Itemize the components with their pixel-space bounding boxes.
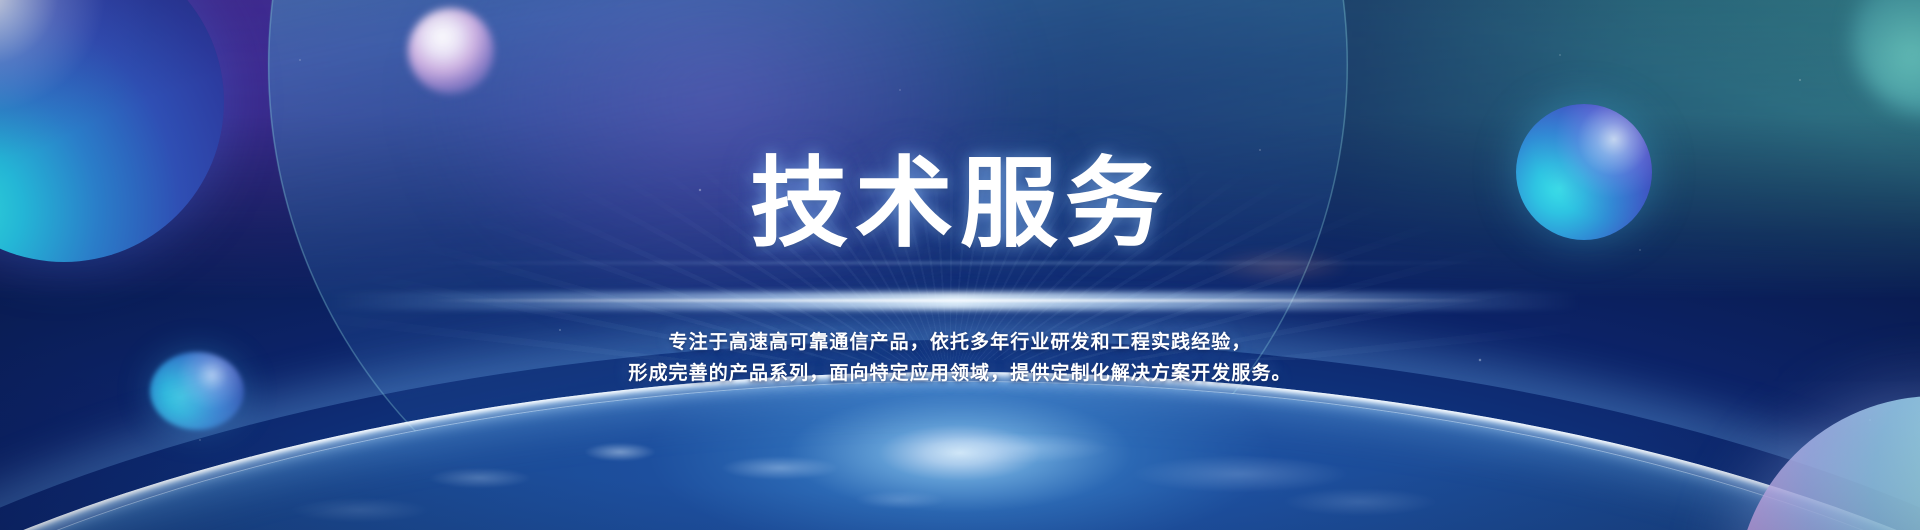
tech-service-hero-banner: 技术服务 专注于高速高可靠通信产品，依托多年行业研发和工程实践经验， 形成完善的… bbox=[0, 0, 1920, 530]
banner-content: 技术服务 专注于高速高可靠通信产品，依托多年行业研发和工程实践经验， 形成完善的… bbox=[0, 0, 1920, 530]
subtitle-line-2: 形成完善的产品系列，面向特定应用领域，提供定制化解决方案开发服务。 bbox=[410, 359, 1510, 390]
page-title: 技术服务 bbox=[750, 152, 1170, 255]
banner-subtitle: 专注于高速高可靠通信产品，依托多年行业研发和工程实践经验， 形成完善的产品系列，… bbox=[410, 328, 1510, 390]
subtitle-line-1: 专注于高速高可靠通信产品，依托多年行业研发和工程实践经验， bbox=[410, 328, 1510, 359]
